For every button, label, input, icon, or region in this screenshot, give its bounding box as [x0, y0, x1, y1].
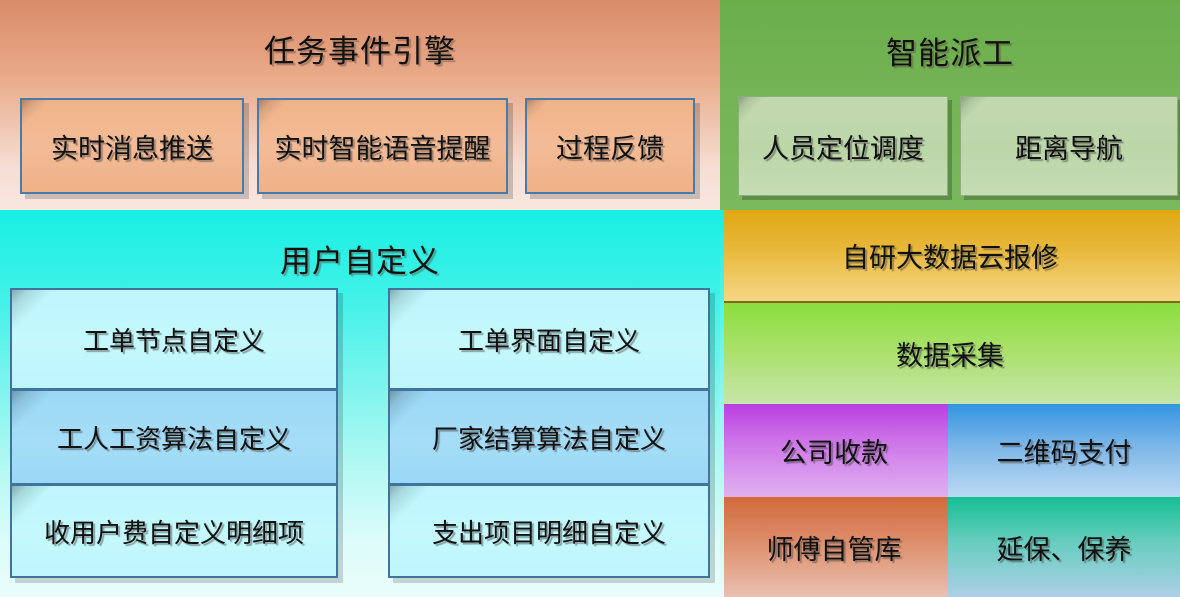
stripe-label: 二维码支付 [997, 431, 1132, 470]
cell-label: 支出项目明细自定义 [432, 513, 666, 550]
panel-bigdata-cloud-repair: 自研大数据云报修 数据采集 公司收款 二维码支付 师傅自管库 延保、保养 [720, 210, 1180, 597]
card-label: 过程反馈 [556, 127, 664, 166]
cell-work-order-node-custom[interactable]: 工单节点自定义 [12, 290, 336, 388]
stripe-technician-self-managed-inventory[interactable]: 师傅自管库 [720, 497, 948, 597]
card-realtime-message-push[interactable]: 实时消息推送 [20, 98, 244, 194]
panel-title-task-event-engine: 任务事件引擎 [0, 26, 720, 71]
cell-worker-wage-algorithm-custom[interactable]: 工人工资算法自定义 [12, 388, 336, 486]
card-label: 人员定位调度 [762, 127, 924, 166]
diagram-canvas: 任务事件引擎 实时消息推送 实时智能语音提醒 过程反馈 智能派工 人员定位调度 … [0, 0, 1180, 597]
card-process-feedback[interactable]: 过程反馈 [525, 98, 695, 194]
cell-factory-settlement-algorithm-custom[interactable]: 厂家结算算法自定义 [390, 388, 708, 486]
card-staff-location-dispatch[interactable]: 人员定位调度 [738, 96, 948, 196]
stripe-data-collection[interactable]: 数据采集 [720, 303, 1180, 404]
cell-label: 厂家结算算法自定义 [432, 419, 666, 456]
cell-label: 工单界面自定义 [458, 321, 640, 358]
cell-label: 工单节点自定义 [83, 321, 265, 358]
cell-label: 收用户费自定义明细项 [44, 513, 304, 550]
stripe-extended-warranty-maintenance[interactable]: 延保、保养 [948, 497, 1180, 597]
cell-label: 工人工资算法自定义 [57, 419, 291, 456]
cell-work-order-ui-custom[interactable]: 工单界面自定义 [390, 290, 708, 388]
user-custom-column-left: 工单节点自定义 工人工资算法自定义 收用户费自定义明细项 [10, 288, 338, 578]
cell-user-fee-custom-detail[interactable]: 收用户费自定义明细项 [12, 486, 336, 576]
panel-title-smart-dispatch: 智能派工 [720, 28, 1180, 73]
stripe-self-developed-bigdata-cloud-repair[interactable]: 自研大数据云报修 [720, 210, 1180, 303]
stripe-label: 公司收款 [780, 431, 888, 470]
panel-title-user-custom: 用户自定义 [0, 236, 720, 281]
panel-task-event-engine: 任务事件引擎 实时消息推送 实时智能语音提醒 过程反馈 [0, 0, 720, 210]
stripe-qr-code-payment[interactable]: 二维码支付 [948, 404, 1180, 497]
card-label: 实时智能语音提醒 [275, 127, 491, 166]
card-distance-navigation[interactable]: 距离导航 [960, 96, 1178, 196]
stripe-company-payment-collection[interactable]: 公司收款 [720, 404, 948, 497]
stripe-label: 自研大数据云报修 [842, 236, 1058, 275]
stripe-label: 数据采集 [896, 334, 1004, 373]
stripe-label: 师傅自管库 [767, 528, 902, 567]
card-label: 距离导航 [1015, 127, 1123, 166]
panel-divider-vertical [720, 210, 724, 597]
card-label: 实时消息推送 [51, 127, 213, 166]
card-realtime-smart-voice-alert[interactable]: 实时智能语音提醒 [257, 98, 508, 194]
user-custom-column-right: 工单界面自定义 厂家结算算法自定义 支出项目明细自定义 [388, 288, 710, 578]
cell-expense-item-detail-custom[interactable]: 支出项目明细自定义 [390, 486, 708, 576]
stripe-label: 延保、保养 [997, 528, 1132, 567]
